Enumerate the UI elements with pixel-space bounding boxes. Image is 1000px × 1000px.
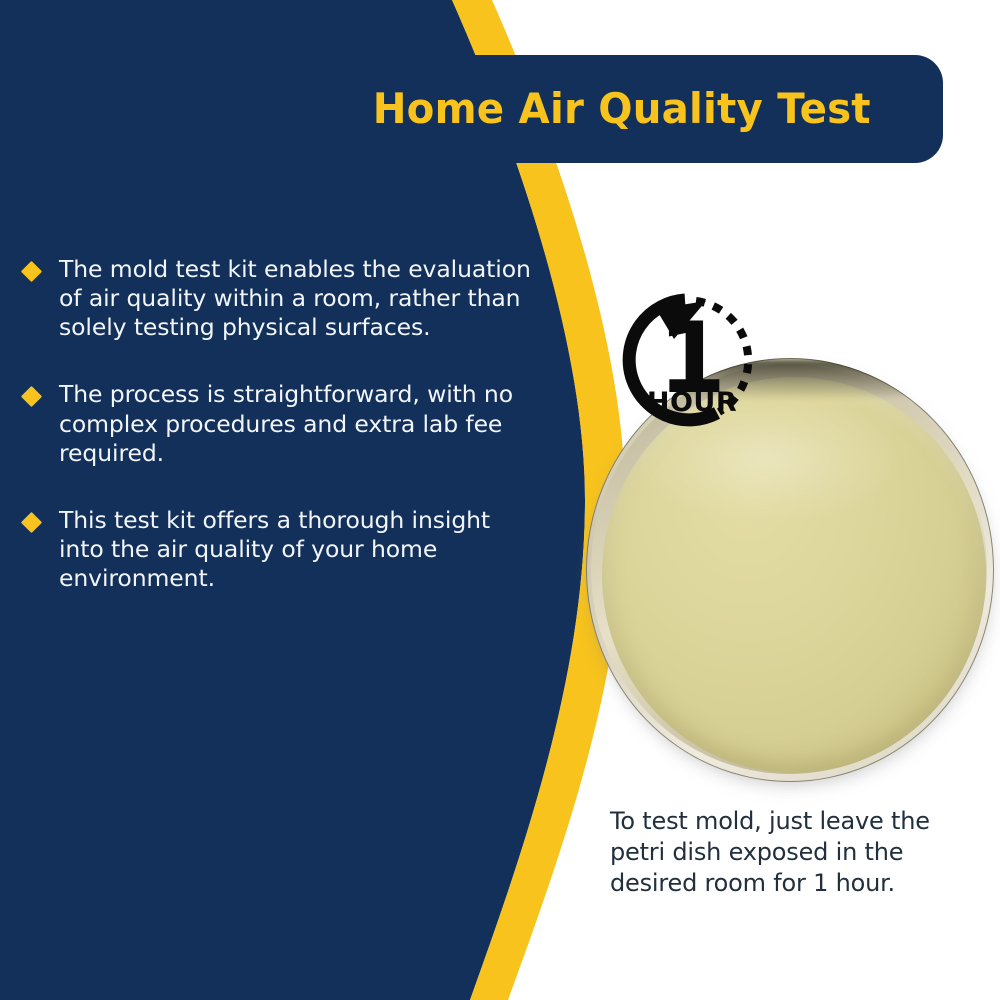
diamond-bullet-icon bbox=[21, 386, 42, 407]
petri-dish-agar bbox=[602, 377, 986, 773]
poster-canvas: Home Air Quality Test The mold test kit … bbox=[0, 0, 1000, 1000]
title-banner: Home Air Quality Test bbox=[0, 55, 943, 163]
bullet-text: The mold test kit enables the evaluation… bbox=[59, 255, 539, 342]
list-item: The mold test kit enables the evaluation… bbox=[24, 255, 544, 342]
timer-unit-label: HOUR bbox=[647, 387, 737, 418]
diamond-bullet-icon bbox=[21, 261, 42, 282]
one-hour-timer-badge: 1 HOUR bbox=[612, 285, 772, 435]
list-item: This test kit offers a thorough insight … bbox=[24, 506, 544, 593]
feature-bullet-list: The mold test kit enables the evaluation… bbox=[24, 255, 544, 593]
diamond-bullet-icon bbox=[21, 512, 42, 533]
product-caption: To test mold, just leave the petri dish … bbox=[610, 806, 970, 900]
list-item: The process is straightforward, with no … bbox=[24, 380, 544, 467]
page-title: Home Air Quality Test bbox=[373, 88, 871, 130]
bullet-text: This test kit offers a thorough insight … bbox=[59, 506, 539, 593]
bullet-text: The process is straightforward, with no … bbox=[59, 380, 539, 467]
